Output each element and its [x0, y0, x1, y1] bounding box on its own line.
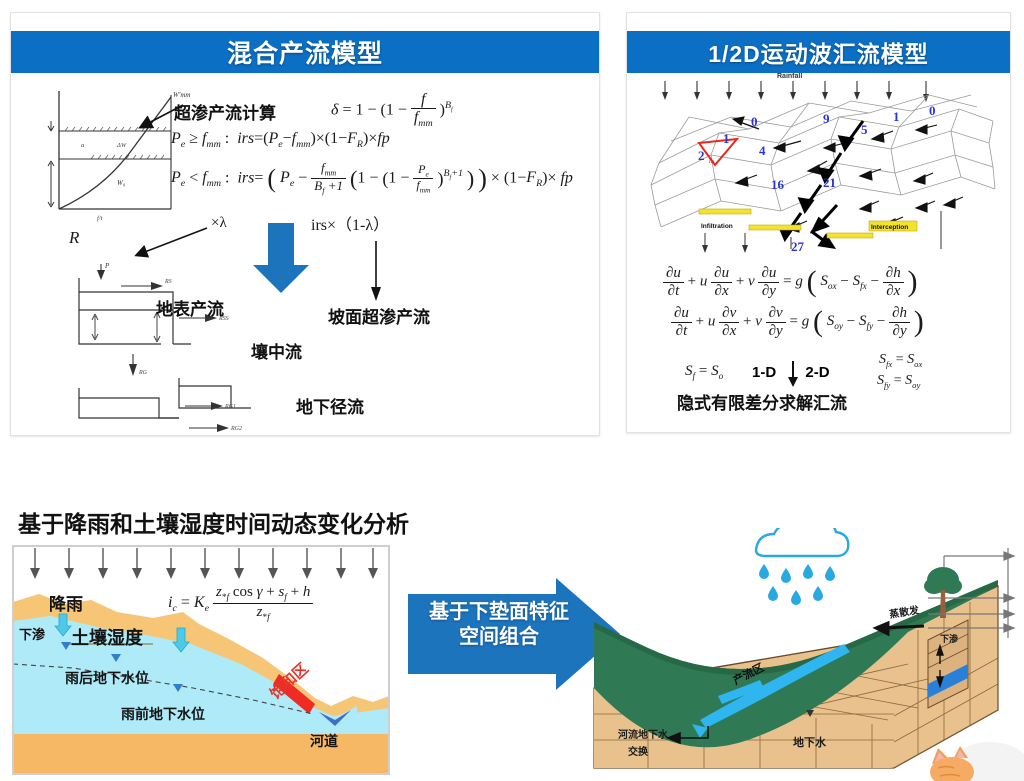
equation-case-pe-ge-fmm: Pe ≥ fmm : irs=(Pe−fmm)×(1−FR)×fp [171, 130, 390, 150]
label-excess-infiltration-calc: 超渗产流计算 [174, 99, 276, 124]
equation-sfx: Sfx = Sox [879, 352, 922, 369]
svg-text:P: P [104, 262, 110, 270]
panel-body-mixed-runoff: W'mm ΔW a W₀ f/t R 超渗产流计算 δ = 1 − (1 − f… [11, 73, 599, 435]
label-water-table-after-rain: 雨后地下水位 [65, 668, 149, 688]
label-block-infiltration: 下渗 [940, 632, 958, 645]
svg-text:ΔW: ΔW [116, 142, 127, 149]
arrow-1d-to-2d [787, 361, 799, 387]
svg-text:Interception: Interception [871, 224, 908, 231]
label-irs-split: irs×（1-λ） [311, 211, 389, 235]
curve-label-R: R [69, 228, 79, 248]
label-water-table-before-rain: 雨前地下水位 [121, 704, 205, 724]
label-hillslope-rainfall: 降雨 [49, 590, 83, 615]
label-hillslope-soil-moisture: 土壤湿度 [71, 624, 143, 650]
svg-text:a: a [81, 142, 84, 149]
svg-text:Infiltration: Infiltration [701, 223, 733, 230]
blue-arrow-text: 基于下垫面特征 空间组合 [424, 600, 574, 650]
svg-text:16: 16 [771, 177, 785, 192]
label-surface-runoff: 地表产流 [156, 295, 224, 320]
equation-momentum-x: ∂u∂t + u ∂u∂x + v ∂u∂y = g ( Sox − Sfx −… [663, 265, 917, 299]
svg-text:W'mm: W'mm [173, 91, 190, 99]
panel-title-mixed-runoff: 混合产流模型 [11, 31, 599, 73]
equation-momentum-y: ∂u∂t + u ∂v∂x + v ∂v∂y = g ( Soy − Sfy −… [671, 305, 924, 339]
label-river-channel: 河道 [310, 731, 338, 751]
panel-mixed-runoff: 混合产流模型 W'mm ΔW a W₀ f/t [10, 12, 600, 436]
svg-text:hs: hs [709, 159, 715, 165]
label-rainfall-word: Rainfall [777, 73, 802, 80]
svg-text:W₀: W₀ [117, 179, 126, 187]
cat-illustration [928, 728, 1024, 781]
slide-canvas: 混合产流模型 W'mm ΔW a W₀ f/t [0, 0, 1024, 781]
svg-text:5: 5 [861, 122, 868, 137]
svg-text:1: 1 [723, 131, 730, 146]
hillslope-cross-section-figure: ic = Ke z*f cos γ + sf + h z*f 降雨 下渗 土壤湿… [12, 545, 390, 775]
label-2d: 2-D [805, 364, 829, 381]
panel-title-kinematic-wave: 1/2D运动波汇流模型 [627, 31, 1010, 73]
tank-cascade-figure: P RS RSS RG RG1 RG2 [61, 258, 276, 433]
label-groundwater-runoff: 地下径流 [296, 393, 364, 418]
label-river-gw-exchange-line1: 河流地下水 [618, 726, 668, 741]
svg-text:4: 4 [759, 143, 766, 158]
cloud-icon [756, 528, 848, 556]
label-slope-excess-runoff: 坡面超渗产流 [328, 303, 430, 328]
svg-text:0: 0 [929, 103, 936, 118]
svg-text:1: 1 [893, 109, 900, 124]
svg-text:RG1: RG1 [224, 404, 236, 410]
svg-text:RS: RS [164, 279, 172, 285]
equation-sf-so: Sf = So [685, 363, 723, 382]
label-interflow: 壤中流 [251, 338, 302, 363]
label-1d: 1-D [752, 364, 776, 381]
blue-arrow-line2: 空间组合 [424, 625, 574, 650]
label-groundwater: 地下水 [793, 734, 826, 750]
svg-text:21: 21 [823, 175, 836, 190]
panel-kinematic-wave: 1/2D运动波汇流模型 Rainfall [626, 12, 1011, 433]
svg-text:RG: RG [138, 370, 148, 376]
svg-text:0: 0 [751, 114, 758, 129]
svg-text:RG2: RG2 [230, 426, 242, 432]
svg-text:f/t: f/t [97, 215, 103, 222]
label-hillslope-infiltration: 下渗 [19, 624, 45, 643]
equation-sfy: Sfy = Soy [877, 373, 920, 390]
equation-infiltration-capacity: ic = Ke z*f cos γ + sf + h z*f [168, 584, 313, 623]
equation-case-pe-lt-fmm: Pe < fmm : irs= ( Pe − fmmBf +1 (1 − (1 … [171, 161, 573, 197]
label-implicit-finite-difference: 隐式有限差分求解汇流 [677, 389, 847, 414]
equation-delta: δ = 1 − (1 − ffmm )Bf [331, 91, 453, 130]
label-river-gw-exchange-line2: 交换 [628, 743, 648, 758]
svg-text:27: 27 [791, 239, 805, 253]
svg-text:9: 9 [823, 111, 830, 126]
arrow-to-slope-excess [369, 241, 383, 301]
panel-body-kinematic-wave: Rainfall [627, 73, 1010, 432]
watershed-block-figure: 产流区 蒸散发 下渗 地下水 河流地下水 交换 [588, 528, 1024, 781]
svg-text:2: 2 [698, 148, 705, 163]
grid-cell-routing-figure: hs 0 1 2 4 9 5 1 0 16 21 27 [641, 81, 998, 253]
blue-arrow-line1: 基于下垫面特征 [424, 600, 574, 625]
bottom-section-heading: 基于降雨和土壤湿度时间动态变化分析 [18, 505, 409, 539]
